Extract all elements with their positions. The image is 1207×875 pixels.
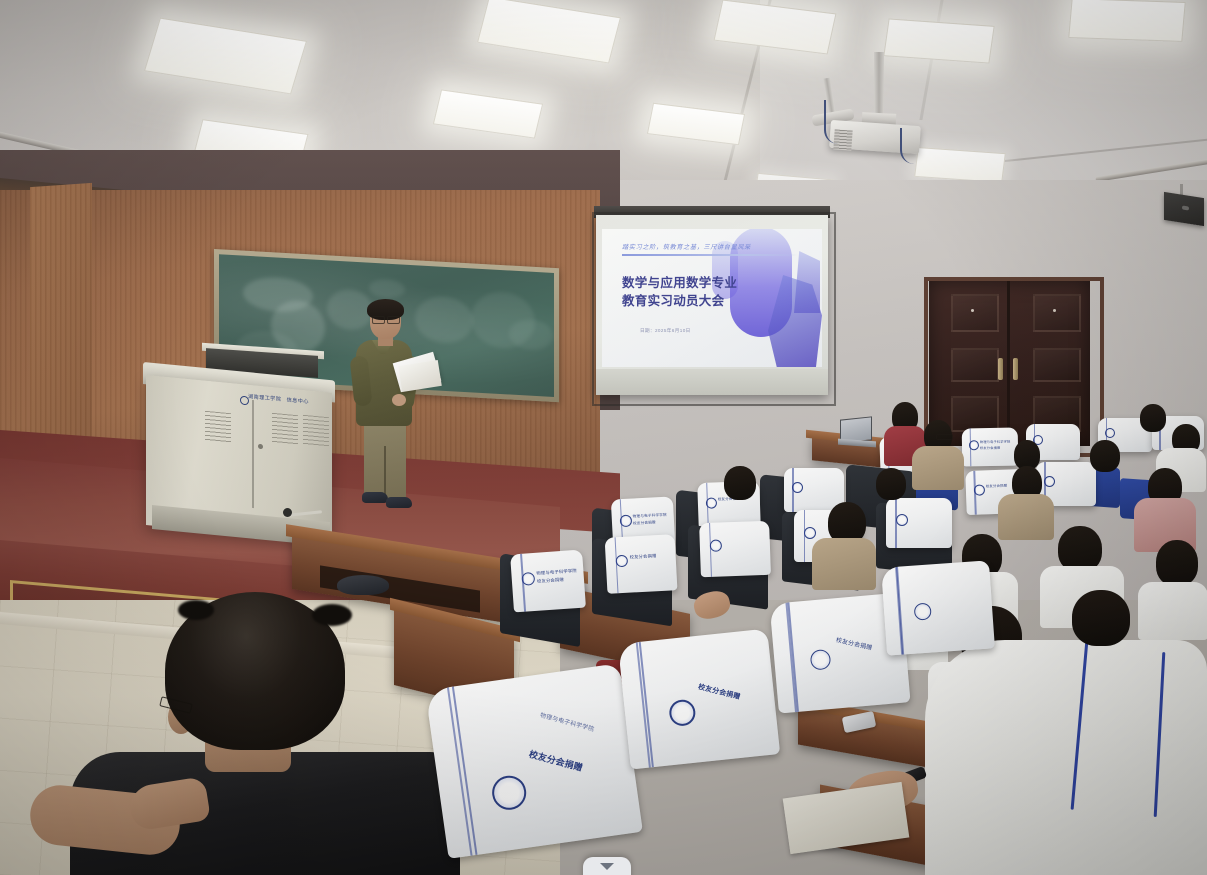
speaker-leg-seam [384, 446, 386, 498]
seat-cover-logo-icon [668, 699, 697, 728]
seat-cover[interactable] [886, 498, 952, 548]
seat-cover[interactable] [881, 560, 995, 655]
seat-cover-logo-icon [792, 482, 803, 493]
door-panel [951, 396, 999, 432]
door-center-seam [1007, 281, 1010, 446]
seat-cover-org-text: 物理与电子科学学院 [633, 513, 667, 520]
door-handle[interactable] [998, 358, 1003, 380]
eyeglasses [936, 434, 953, 440]
seat-cover-logo-icon [974, 484, 985, 495]
ceiling-light-panel [883, 18, 994, 63]
seat-cover-logo-icon [710, 539, 722, 551]
seat-cover-donor-text: 校友分会捐赠 [633, 520, 656, 526]
lecture-hall-photo: 踏实习之阶，筑教育之基，三尺讲台显风采 数学与应用数学专业 教育实习动员大会 日… [0, 0, 1207, 875]
seat-cover-logo-icon [706, 497, 717, 508]
seat-cover[interactable]: 校友分会捐赠 [605, 534, 678, 594]
seat-cover[interactable] [699, 521, 771, 577]
seat-cover-logo-icon [969, 440, 979, 450]
speaker-glasses-left-lens [372, 316, 385, 324]
seat-cover-logo-icon [490, 774, 528, 812]
seat-cover-donor-text: 校友分会捐赠 [986, 484, 1008, 489]
seat-cover-logo-icon [810, 649, 832, 671]
seat-cover-logo-icon [896, 514, 908, 526]
audience-head [1140, 404, 1166, 432]
projector-mount-pole [874, 52, 884, 116]
ceiling-light-panel [914, 147, 1006, 183]
seat-cover-donor-text: 校友分会捐赠 [697, 683, 741, 703]
speaker-shoe [362, 492, 388, 503]
audience-torso [912, 446, 964, 490]
foreground-right-student-body [925, 640, 1207, 875]
audience-head [1072, 590, 1130, 646]
bag-on-shelf [337, 575, 389, 595]
projector-cable [900, 128, 916, 164]
seat-cover-org-text: 物理与电子科学学院 [980, 440, 1011, 445]
seat-cover-org-text: 物理与电子科学学院 [539, 712, 595, 734]
seat-cover-donor-text: 校友分会捐赠 [537, 577, 564, 585]
seat-cover-logo-icon [1105, 428, 1115, 438]
door-panel [1033, 294, 1081, 332]
speaker-glasses-right-lens [387, 316, 400, 324]
screen-border [592, 212, 836, 406]
microphone-head [283, 508, 292, 517]
seat-cover-donor-text: 校友分会捐赠 [835, 637, 873, 653]
door-stud [971, 309, 974, 312]
scroll-down-button[interactable] [583, 857, 631, 875]
podium-vent [205, 411, 231, 444]
seat-cover-logo-icon [914, 603, 932, 621]
seat-cover[interactable]: 物理与电子科学学院 校友分会捐赠 [510, 550, 586, 613]
podium-cabinet-seam [252, 400, 254, 508]
seat-cover-logo-icon [1044, 476, 1055, 487]
seat-cover-donor-text: 校友分会捐赠 [528, 748, 584, 774]
seat-cover-logo-icon [521, 572, 535, 586]
seat-cover-logo-icon [620, 515, 633, 528]
seat-cover-org-text: 物理与电子科学学院 [536, 568, 577, 577]
door-panel [951, 348, 999, 382]
seat-cover-donor-text: 校友分会捐赠 [629, 553, 656, 560]
audience-head [1090, 440, 1120, 472]
audience-torso [998, 494, 1054, 540]
audience-head [1156, 540, 1198, 586]
audience-torso [1138, 582, 1207, 640]
podium-lock-icon[interactable] [258, 444, 263, 449]
seat-cover[interactable]: 物理与电子科学学院 校友分会捐赠 [962, 428, 1019, 467]
seat-cover[interactable]: 校友分会捐赠 [618, 629, 780, 770]
podium-vent [303, 415, 329, 448]
audience-head [876, 468, 906, 500]
door-panel [951, 294, 999, 332]
door-stud [1053, 309, 1056, 312]
chevron-down-icon [600, 863, 614, 870]
ceiling-light-panel [1068, 0, 1185, 42]
audience-torso [812, 538, 876, 590]
door-handle[interactable] [1013, 358, 1018, 380]
door-panel [1033, 348, 1081, 382]
podium-vent [272, 413, 298, 446]
seat-cover-logo-icon [616, 555, 629, 568]
seat-cover-logo-icon [804, 527, 816, 539]
speaker-hand [392, 394, 406, 406]
speaker-shoe [386, 497, 412, 508]
seat-cover[interactable]: 校友分会捐赠 物理与电子科学学院 [425, 663, 643, 859]
audience-head [724, 466, 756, 500]
projector-cable [824, 100, 842, 144]
seat-cover-donor-text: 校友分会捐赠 [980, 446, 1000, 451]
